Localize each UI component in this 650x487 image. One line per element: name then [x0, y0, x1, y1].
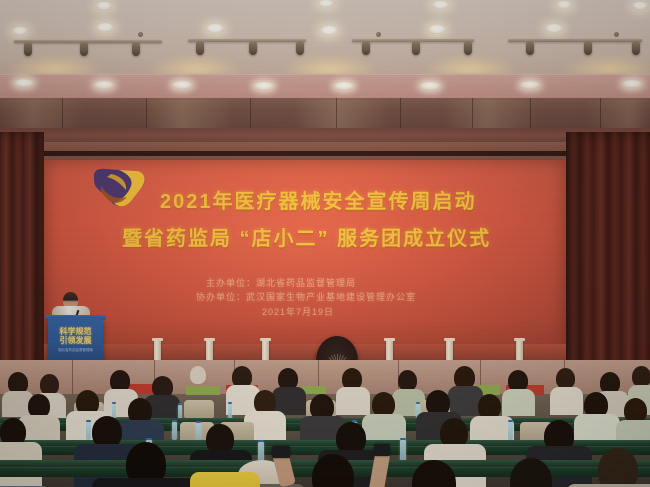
recessed-ceiling-light: [318, 0, 334, 7]
recessed-ceiling-light: [545, 24, 563, 33]
screen-title-line-1: 2021年医疗器械安全宣传周启动: [160, 185, 477, 214]
recessed-ceiling-light: [320, 26, 338, 35]
chair-back: [184, 400, 214, 418]
track-spotlight: [132, 43, 140, 56]
rear-green-panel: [186, 386, 220, 395]
ceiling-light-glow: [0, 38, 650, 74]
wall-panel-seam: [62, 98, 63, 132]
podium-subtitle: 湖北省药品监督管理局: [50, 348, 101, 353]
stage-decor-pillar-cap: [514, 338, 525, 341]
wall-panel-seam: [400, 98, 401, 132]
bottle-cap: [112, 402, 116, 404]
stage-curtain-right: [566, 132, 650, 382]
light-track-bar: [14, 40, 162, 43]
podium-calligraphy: 科学规范引领发展: [50, 327, 101, 345]
recessed-ceiling-light: [428, 25, 446, 34]
audience-head: [40, 374, 59, 395]
screen-date-line: 2021年7月19日: [262, 305, 334, 318]
bottle-cap: [228, 402, 232, 404]
track-spotlight: [196, 42, 204, 55]
smoke-detector-icon: [138, 32, 143, 37]
stage-decor-pillar-cap: [444, 338, 455, 341]
audience-torso: [336, 387, 370, 415]
stage-decor-pillar-cap: [152, 338, 163, 341]
recessed-ceiling-light: [206, 24, 224, 33]
audience-torso-yellow: [190, 472, 260, 487]
track-spotlight: [296, 42, 304, 55]
stage-decor-pillar-cap: [260, 338, 271, 341]
stage-valance-upper: [0, 128, 650, 142]
recessed-ceiling-light: [632, 2, 648, 10]
bottle-cap: [178, 403, 182, 405]
water-bottle: [172, 422, 177, 440]
audience-head: [598, 448, 638, 487]
water-bottle: [196, 423, 201, 440]
band-downlight: [254, 82, 274, 90]
wall-panel-seam: [250, 98, 251, 132]
audience-head: [398, 370, 417, 391]
light-track-bar: [188, 39, 306, 42]
water-bottle: [400, 440, 406, 462]
bottle-cap: [508, 420, 513, 422]
wood-wall-reflection: [0, 98, 650, 132]
wall-panel-seam: [336, 98, 337, 132]
track-spotlight: [362, 42, 370, 55]
stage-valance-middle: [0, 142, 650, 151]
recessed-ceiling-light: [432, 1, 449, 9]
bottle-cap: [400, 438, 406, 440]
water-bottle: [508, 422, 513, 440]
stage-decor-pillar-cap: [384, 338, 395, 341]
track-spotlight: [632, 42, 640, 55]
bottle-cap: [146, 438, 152, 440]
bottle-cap: [172, 420, 177, 422]
band-downlight: [334, 82, 354, 90]
screen-organizer-line: 主办单位：湖北省药品监督管理局: [206, 276, 356, 289]
recessed-ceiling-light: [556, 1, 572, 9]
wall-panel-seam: [146, 98, 147, 132]
band-downlight: [520, 81, 540, 89]
water-bottle: [86, 422, 91, 440]
wall-panel-seam: [472, 98, 473, 132]
recessed-ceiling-light: [96, 23, 114, 32]
screen-coorganizer-line: 协办单位：武汉国家生物产业基地建设管理办公室: [196, 290, 416, 303]
audience-head: [556, 368, 575, 389]
smartphone: [374, 444, 390, 456]
track-spotlight: [80, 43, 88, 56]
band-downlight: [94, 81, 114, 89]
audience-head: [190, 366, 206, 384]
track-spotlight: [412, 42, 420, 55]
track-spotlight: [584, 42, 592, 55]
wall-panel-seam: [600, 98, 601, 132]
conference-hall-photo: 2021年医疗器械安全宣传周启动 暨省药监局 “店小二” 服务团成立仪式 主办单…: [0, 0, 650, 487]
audience-area: [0, 360, 650, 487]
band-downlight: [172, 81, 192, 89]
smoke-detector-icon: [614, 32, 619, 37]
bottle-cap: [86, 420, 91, 422]
stage-curtain-left: [0, 132, 44, 382]
stage-decor-pillar-cap: [204, 338, 215, 341]
audience-head: [632, 366, 650, 387]
bottle-cap: [196, 421, 201, 423]
smartphone: [272, 446, 290, 458]
screen-title-line-2: 暨省药监局 “店小二” 服务团成立仪式: [122, 222, 491, 251]
audience-torso: [550, 387, 583, 415]
audience-torso: [502, 389, 535, 416]
track-spotlight: [526, 42, 534, 55]
audience-torso: [92, 478, 200, 487]
band-downlight: [420, 82, 440, 90]
smoke-detector-icon: [376, 32, 381, 37]
bottle-cap: [416, 402, 420, 404]
wall-panel-seam: [530, 98, 531, 132]
band-downlight: [14, 79, 34, 87]
track-spotlight: [464, 42, 472, 55]
bottle-cap: [258, 440, 264, 442]
track-spotlight: [24, 43, 32, 56]
recessed-ceiling-light: [96, 2, 112, 10]
event-emblem-icon: [91, 166, 149, 214]
band-downlight: [622, 80, 642, 88]
track-spotlight: [249, 42, 257, 55]
recessed-ceiling-light: [12, 27, 28, 35]
